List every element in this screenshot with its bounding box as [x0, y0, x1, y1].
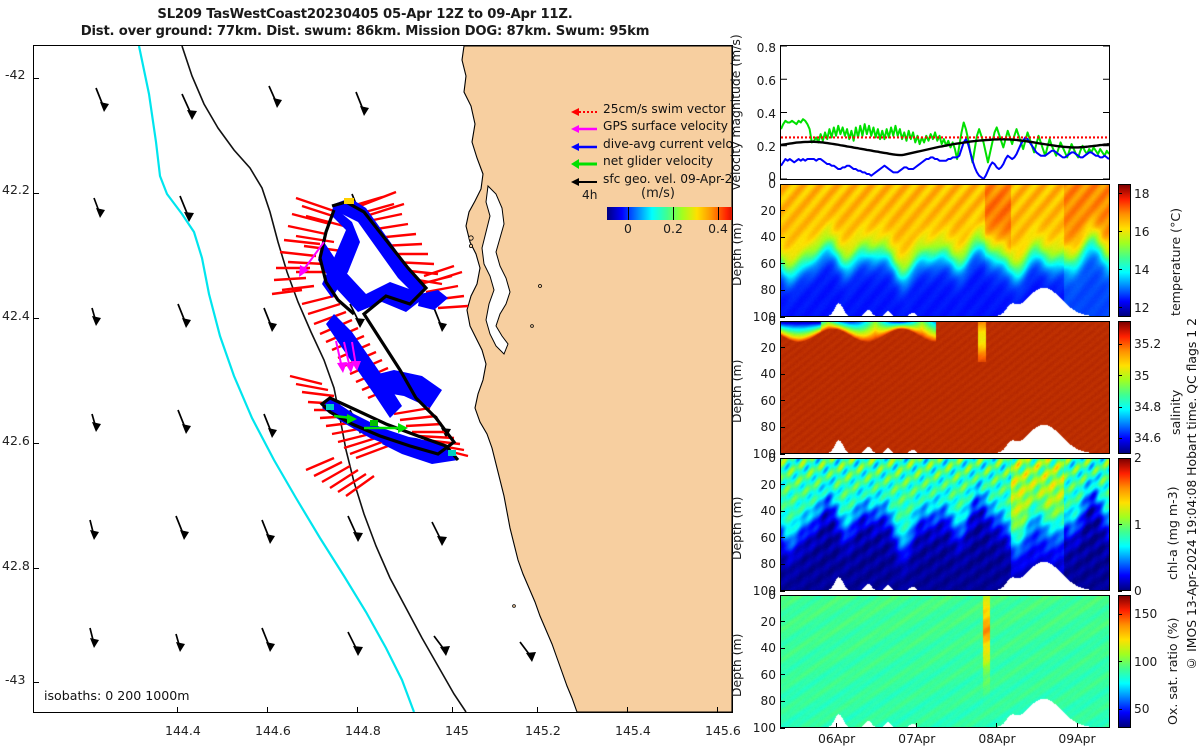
map-xtick-label: 145 — [445, 723, 469, 738]
velocity-ytick: 0.8 — [748, 41, 776, 55]
map-ytickmark — [33, 78, 39, 79]
oxygen-depth-tick: 0 — [740, 588, 776, 602]
depth-tickmark — [780, 317, 785, 318]
chlorophyll-depth-tick: 0 — [740, 451, 776, 465]
map-ytickmark — [33, 568, 39, 569]
dive-avg-current-arrow-icon — [569, 138, 599, 150]
depth-tickmark — [780, 674, 785, 675]
salinity-colorbar-label: salinity — [1168, 355, 1183, 435]
offshore-island — [539, 285, 542, 288]
temperature-depth-tick: 40 — [740, 230, 776, 244]
chlorophyll-heatmap — [781, 459, 1109, 590]
map-xtickmark — [717, 707, 718, 713]
depth-tickmark — [780, 184, 785, 185]
map-ytickmark — [33, 318, 39, 319]
map-xtick-label: 144.4 — [165, 723, 201, 738]
oxygen-section-panel[interactable] — [780, 595, 1110, 728]
depth-tickmark — [780, 648, 785, 649]
map-xtick-label: 145.4 — [615, 723, 651, 738]
map-xtickmark — [627, 707, 628, 713]
colorbar-tick-label: 100 — [1134, 655, 1157, 669]
depth-tickmark — [780, 484, 785, 485]
colorbar-tickmark — [1118, 458, 1122, 459]
depth-tickmark — [780, 591, 785, 592]
time-axis-tick-label: 06Apr — [818, 731, 855, 746]
map-xtickmark — [357, 707, 358, 713]
legend-item-net-glider-velocity: net glider velocity — [569, 153, 733, 171]
gps-velocity-arrow-icon — [569, 120, 599, 132]
depth-tickmark — [780, 321, 785, 322]
legend-units: (m/s) — [641, 186, 675, 201]
map-legend: 25cm/s swim vector GPS surface velocity … — [569, 100, 733, 188]
colorbar-tick-label: 16 — [1134, 225, 1150, 239]
colorbar-tickmark — [1118, 375, 1122, 376]
legend-item-swim-vector: 25cm/s swim vector — [569, 100, 733, 118]
offshore-island — [469, 244, 472, 247]
chlorophyll-depth-tick: 20 — [740, 478, 776, 492]
colorbar-tickmark — [1118, 307, 1122, 308]
velocity-plot-area — [781, 46, 1109, 179]
salinity-section-panel[interactable] — [780, 321, 1110, 454]
swim-vector-arrow-icon — [569, 103, 599, 115]
colorbar-tick — [673, 207, 674, 220]
depth-tickmark — [780, 347, 785, 348]
time-axis-tick-label: 08Apr — [978, 731, 1015, 746]
colorbar-tick-label: 35 — [1134, 369, 1150, 383]
map-xtickmark — [267, 707, 268, 713]
oxygen-heatmap — [781, 596, 1109, 727]
legend-label: net glider velocity — [603, 154, 713, 168]
time-axis-tickmark — [996, 723, 997, 728]
map-xtickmark — [537, 707, 538, 713]
depth-tickmark — [780, 454, 785, 455]
colorbar-tickmark — [1118, 524, 1122, 525]
oxygen-depth-label: Depth (m) — [729, 626, 745, 704]
offshore-island — [531, 325, 534, 328]
velocity-timeseries-panel[interactable] — [780, 45, 1110, 180]
map-xtick-label: 144.6 — [255, 723, 291, 738]
colorbar-tickmark — [1118, 438, 1122, 439]
depth-tickmark — [780, 564, 785, 565]
colorbar-tick-label: 12 — [1134, 301, 1150, 315]
oxygen-depth-tick: 100 — [740, 721, 776, 735]
salinity-depth-tick: 80 — [740, 420, 776, 434]
oxygen-colorbar-label: Ox. sat. ratio (%) — [1165, 600, 1180, 725]
map-ytick-label: 42.4 — [2, 308, 30, 323]
temperature-depth-tick: 60 — [740, 257, 776, 271]
oxygen-depth-tick: 60 — [740, 668, 776, 682]
time-axis-tickmark — [1077, 723, 1078, 728]
temperature-colorbar — [1118, 184, 1131, 317]
colorbar-tickmark — [1118, 614, 1122, 615]
colorbar-tickmark — [1118, 591, 1122, 592]
map-ytick-label: 42.6 — [2, 433, 30, 448]
oxygen-depth-tick: 20 — [740, 615, 776, 629]
colorbar-tickmark — [1118, 193, 1122, 194]
salinity-depth-tick: 40 — [740, 367, 776, 381]
depth-tickmark — [780, 210, 785, 211]
salinity-depth-label: Depth (m) — [729, 352, 745, 430]
isobath-annotation: isobaths: 0 200 1000m — [44, 688, 190, 703]
colorbar-tickmark — [1118, 269, 1122, 270]
colorbar-tickmark — [1118, 344, 1122, 345]
map-ytick-label: -42 — [5, 67, 25, 82]
colorbar-tick-label: 2 — [1134, 451, 1142, 465]
map-xtick-label: 145.6 — [705, 723, 741, 738]
attribution-text: © IMOS 13-Apr-2024 19:04:08 Hobart time.… — [1184, 318, 1199, 671]
map-ytick-label: -43 — [5, 672, 25, 687]
temperature-depth-tick: 20 — [740, 204, 776, 218]
colorbar-tickmark — [1118, 231, 1122, 232]
salinity-depth-tick: 0 — [740, 314, 776, 328]
colorbar-tick-label: 0.2 — [663, 221, 683, 236]
temperature-heatmap — [781, 185, 1109, 316]
depth-tickmark — [780, 701, 785, 702]
geostrophic-velocity-arrows — [90, 86, 536, 662]
colorbar-tickmark — [1118, 661, 1122, 662]
colorbar-tick-label: 0 — [1134, 584, 1142, 598]
chlorophyll-depth-tick: 80 — [740, 557, 776, 571]
colorbar-tickmark — [1118, 709, 1122, 710]
map-xtickmark — [177, 707, 178, 713]
time-axis-tickmark — [836, 723, 837, 728]
oxygen-depth-tick: 80 — [740, 694, 776, 708]
velocity-ytick: 0.6 — [748, 74, 776, 88]
chlorophyll-section-panel[interactable] — [780, 458, 1110, 591]
colorbar-tickmark — [1118, 407, 1122, 408]
depth-tickmark — [780, 290, 785, 291]
salinity-depth-tick: 20 — [740, 341, 776, 355]
map-xtick-label: 144.8 — [345, 723, 381, 738]
figure-title: SL209 TasWestCoast20230405 05-Apr 12Z to… — [0, 6, 730, 40]
legend-item-sfc-geo-velocity: sfc geo. vel. 09-Apr-2023 — [569, 170, 733, 188]
salinity-colorbar — [1118, 321, 1131, 454]
colorbar-tick-label: 18 — [1134, 187, 1150, 201]
map-xtick-label: 145.2 — [525, 723, 561, 738]
legend-label: dive-avg current veloc. — [603, 137, 733, 151]
time-axis-tick-label: 09Apr — [1058, 731, 1095, 746]
colorbar-tick-label: 0.4 — [708, 221, 728, 236]
legend-label: sfc geo. vel. 09-Apr-2023 — [603, 172, 733, 186]
colorbar-tick-label: 34.6 — [1134, 431, 1161, 445]
map-ytick-label: 42.2 — [2, 182, 30, 197]
colorbar-tick-label: 0 — [624, 221, 632, 236]
velocity-ytick: 0.2 — [748, 140, 776, 154]
legend-label: 25cm/s swim vector — [603, 102, 726, 116]
colorbar-tick-label: 150 — [1134, 607, 1157, 621]
colorbar-tick-label: 50 — [1134, 702, 1150, 716]
depth-tickmark — [780, 511, 785, 512]
time-axis-tickmark — [916, 723, 917, 728]
colorbar-tick-label: 14 — [1134, 263, 1150, 277]
offshore-island — [513, 605, 516, 608]
sfc-geo-velocity-arrow-icon — [569, 173, 599, 185]
colorbar-tick — [718, 207, 719, 220]
offshore-island — [469, 236, 473, 240]
colorbar-tick-label: 1 — [1134, 518, 1142, 532]
colorbar-tick-label: 35.2 — [1134, 337, 1161, 351]
map-ytickmark — [33, 193, 39, 194]
map-ytick-label: 42.8 — [2, 558, 30, 573]
depth-tickmark — [780, 374, 785, 375]
legend-label: GPS surface velocity — [603, 119, 728, 133]
chlorophyll-depth-label: Depth (m) — [729, 489, 745, 567]
map-xtickmark — [452, 707, 453, 713]
depth-tickmark — [780, 263, 785, 264]
temperature-colorbar-label: temperature (°C) — [1168, 186, 1183, 316]
depth-tickmark — [780, 237, 785, 238]
title-line-1: SL209 TasWestCoast20230405 05-Apr 12Z to… — [0, 6, 730, 23]
salinity-depth-tick: 60 — [740, 394, 776, 408]
temperature-depth-tick: 80 — [740, 283, 776, 297]
chlorophyll-depth-tick: 40 — [740, 504, 776, 518]
salinity-heatmap — [781, 322, 1109, 453]
legend-time-interval: 4h — [582, 188, 597, 202]
legend-item-gps-surface-velocity: GPS surface velocity — [569, 118, 733, 136]
oxygen-depth-tick: 40 — [740, 641, 776, 655]
colorbar-tick-label: 34.8 — [1134, 400, 1161, 414]
map-panel[interactable]: 25cm/s swim vector GPS surface velocity … — [33, 45, 733, 713]
velocity-ytick: 0.4 — [748, 107, 776, 121]
depth-tickmark — [780, 537, 785, 538]
depth-tickmark — [780, 621, 785, 622]
temperature-depth-label: Depth (m) — [729, 215, 745, 293]
depth-tickmark — [780, 427, 785, 428]
map-ytickmark — [33, 682, 39, 683]
velocity-axis-label: velocity magnitude (m/s) — [728, 40, 744, 190]
net-glider-velocity-arrow-icon — [569, 155, 599, 167]
temperature-depth-tick: 0 — [740, 177, 776, 191]
depth-tickmark — [780, 458, 785, 459]
depth-tickmark — [780, 728, 785, 729]
temperature-section-panel[interactable] — [780, 184, 1110, 317]
chlorophyll-colorbar-label: chl-a (mg m-3) — [1165, 470, 1180, 580]
title-line-2: Dist. over ground: 77km. Dist. swum: 86k… — [0, 23, 730, 40]
map-ytickmark — [33, 443, 39, 444]
time-axis-tick-label: 07Apr — [898, 731, 935, 746]
colorbar-tick — [628, 207, 629, 220]
chlorophyll-depth-tick: 60 — [740, 531, 776, 545]
depth-tickmark — [780, 595, 785, 596]
depth-tickmark — [780, 400, 785, 401]
legend-item-dive-avg-current: dive-avg current veloc. — [569, 135, 733, 153]
velocity-colorbar — [607, 207, 733, 220]
